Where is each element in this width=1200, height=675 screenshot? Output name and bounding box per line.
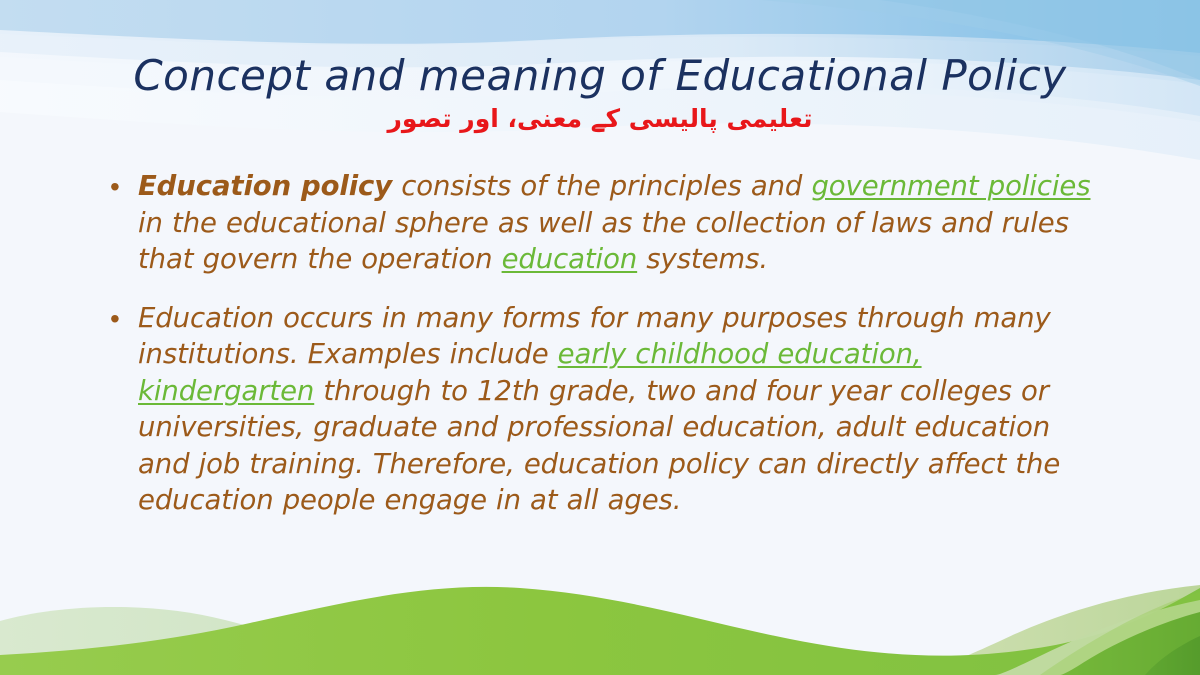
term-education-policy: Education policy	[138, 170, 392, 202]
bullet-dot-icon: •	[104, 300, 138, 337]
link-kindergarten[interactable]: kindergarten	[138, 375, 314, 407]
bullet-item: • Education policy consists of the princ…	[104, 168, 1102, 278]
bullet-1-seg-6: systems.	[637, 243, 768, 275]
link-government-policies[interactable]: government policies	[811, 170, 1090, 202]
presentation-slide: Concept and meaning of Educational Polic…	[0, 0, 1200, 675]
bullet-item: • Education occurs in many forms for man…	[104, 300, 1102, 519]
bullet-text-1: Education policy consists of the princip…	[138, 168, 1102, 278]
link-education[interactable]: education	[502, 243, 638, 275]
bullet-dot-icon: •	[104, 168, 138, 205]
slide-body: • Education policy consists of the princ…	[104, 168, 1102, 541]
bullet-text-2: Education occurs in many forms for many …	[138, 300, 1102, 519]
slide-subtitle-urdu: تعلیمی پالیسی کے معنی، اور تصور	[0, 103, 1200, 134]
bullet-1-seg-2: consists of the principles and	[392, 170, 811, 202]
link-early-childhood-education[interactable]: early childhood education,	[558, 338, 922, 370]
slide-title: Concept and meaning of Educational Polic…	[0, 52, 1200, 99]
title-block: Concept and meaning of Educational Polic…	[0, 52, 1200, 134]
